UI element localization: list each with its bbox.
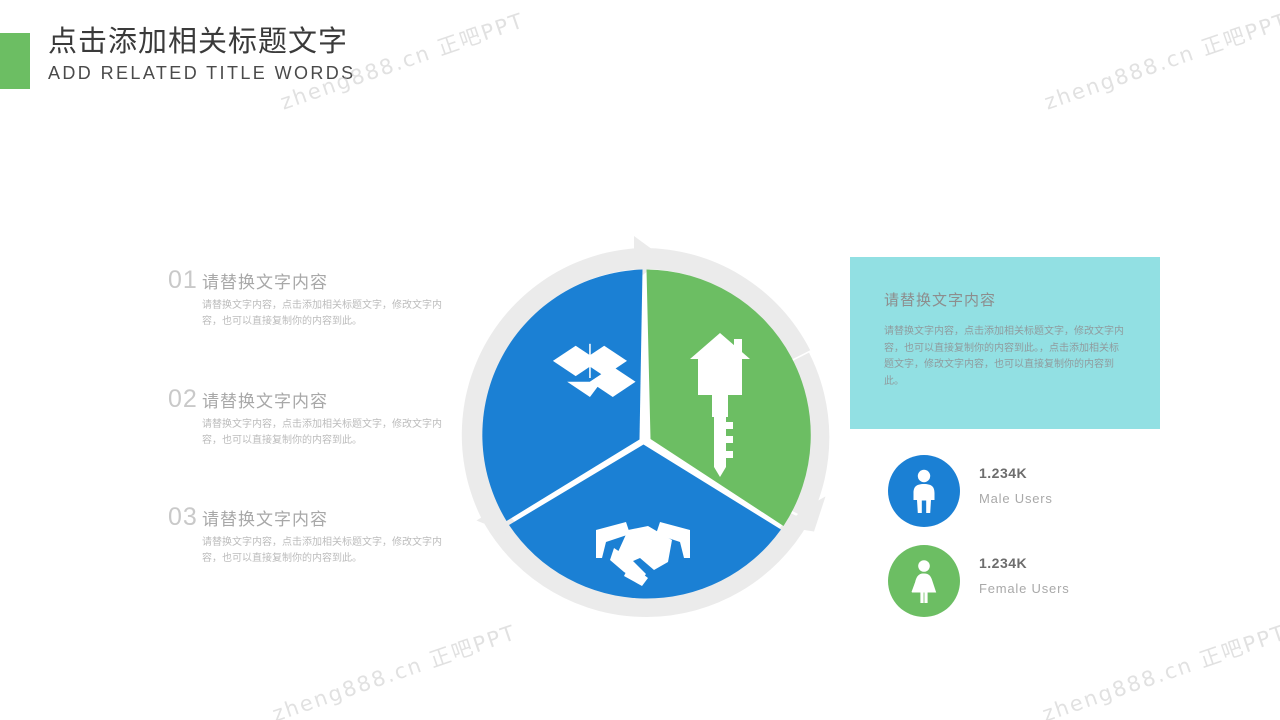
info-panel-body: 请替换文字内容，点击添加相关标题文字，修改文字内容，也可以直接复制你的内容到此。… [884, 324, 1126, 390]
list-item-index: 03 [168, 503, 198, 532]
list-item-description: 请替换文字内容，点击添加相关标题文字，修改文字内容，也可以直接复制你的内容到此。 [202, 417, 458, 448]
page-title-cn: 点击添加相关标题文字 [48, 26, 688, 59]
stat-row-female[interactable]: 1.234K Female Users [888, 545, 1148, 617]
list-item-index: 02 [168, 385, 198, 414]
circular-process-diagram [438, 230, 848, 640]
page-title-en: ADD RELATED TITLE WORDS [48, 63, 688, 84]
stat-row-male[interactable]: 1.234K Male Users [888, 455, 1148, 527]
slide-canvas: 点击添加相关标题文字 ADD RELATED TITLE WORDS 01 请替… [0, 0, 1280, 720]
male-user-icon [907, 469, 941, 513]
male-user-badge [888, 455, 960, 527]
list-item-heading: 请替换文字内容 [202, 505, 328, 530]
list-item-index: 01 [168, 266, 198, 295]
list-item-description: 请替换文字内容，点击添加相关标题文字，修改文字内容，也可以直接复制你的内容到此。 [202, 535, 458, 566]
list-item-description: 请替换文字内容，点击添加相关标题文字，修改文字内容，也可以直接复制你的内容到此。 [202, 298, 458, 329]
female-stat-label: Female Users [979, 581, 1070, 596]
female-stat-value: 1.234K [979, 555, 1070, 571]
watermark: zheng888.cn 正吧PPT [1038, 617, 1280, 720]
info-panel: 请替换文字内容 请替换文字内容，点击添加相关标题文字，修改文字内容，也可以直接复… [850, 257, 1160, 429]
female-user-icon [907, 559, 941, 603]
male-stat-value: 1.234K [979, 465, 1053, 481]
male-stat-label: Male Users [979, 491, 1053, 506]
page-title-block: 点击添加相关标题文字 ADD RELATED TITLE WORDS [48, 26, 688, 84]
male-stat-text: 1.234K Male Users [979, 465, 1053, 506]
info-panel-title: 请替换文字内容 [884, 289, 1126, 310]
list-item-heading: 请替换文字内容 [202, 387, 328, 412]
header-accent-bar [0, 33, 30, 89]
female-user-badge [888, 545, 960, 617]
watermark: zheng888.cn 正吧PPT [1040, 5, 1280, 117]
list-item-heading: 请替换文字内容 [202, 268, 328, 293]
female-stat-text: 1.234K Female Users [979, 555, 1070, 596]
